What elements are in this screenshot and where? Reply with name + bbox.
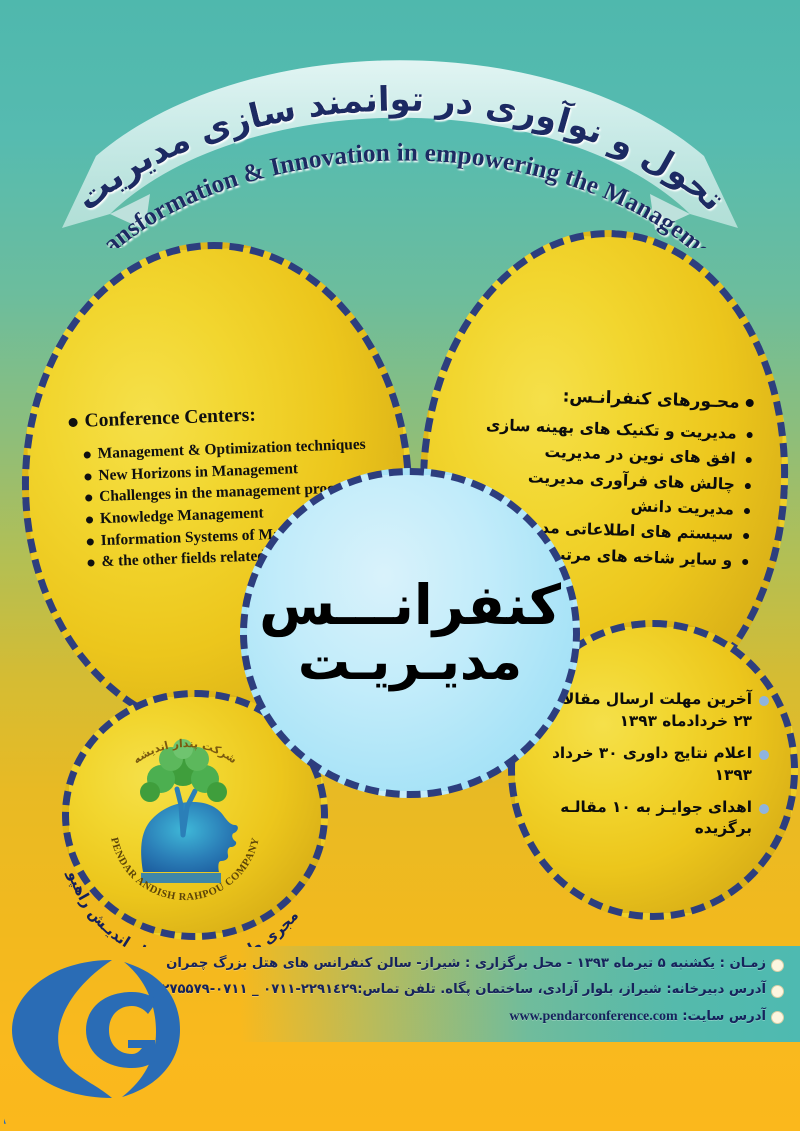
conference-name-bubble: کنفرانـــس مدیـریـت [240, 468, 580, 798]
website-url[interactable]: www.pendarconference.com [509, 1008, 677, 1026]
bullet-icon [68, 418, 77, 427]
topics-heading: محـورهای کنفرانـس: [458, 382, 755, 412]
conference-centers-heading: Conference Centers: [68, 401, 373, 434]
conference-poster: تحول و نوآوری در توانمند سازی مدیریت Tra… [0, 0, 800, 1131]
civilica-arc-icon [122, 962, 180, 1097]
website-label: آدرس سایت: [678, 1009, 766, 1024]
civilica-logo: CIVILICA [4, 952, 204, 1128]
conference-name-line2: مدیـریـت [298, 635, 522, 690]
topics-heading-label: محـورهای کنفرانـس: [562, 386, 740, 412]
head-silhouette-icon [141, 802, 238, 872]
list-item: اهدای جوایـز به ۱۰ مقالـه برگزیده [531, 797, 769, 840]
civilica-wordmark: CIVILICA [4, 1086, 8, 1128]
conference-centers-heading-label: Conference Centers: [84, 405, 256, 433]
civilica-inner-c-icon [86, 992, 158, 1068]
bullet-icon [746, 399, 754, 407]
conference-name-line1: کنفرانـــس [259, 577, 561, 635]
title-banner: تحول و نوآوری در توانمند سازی مدیریت Tra… [0, 18, 800, 248]
